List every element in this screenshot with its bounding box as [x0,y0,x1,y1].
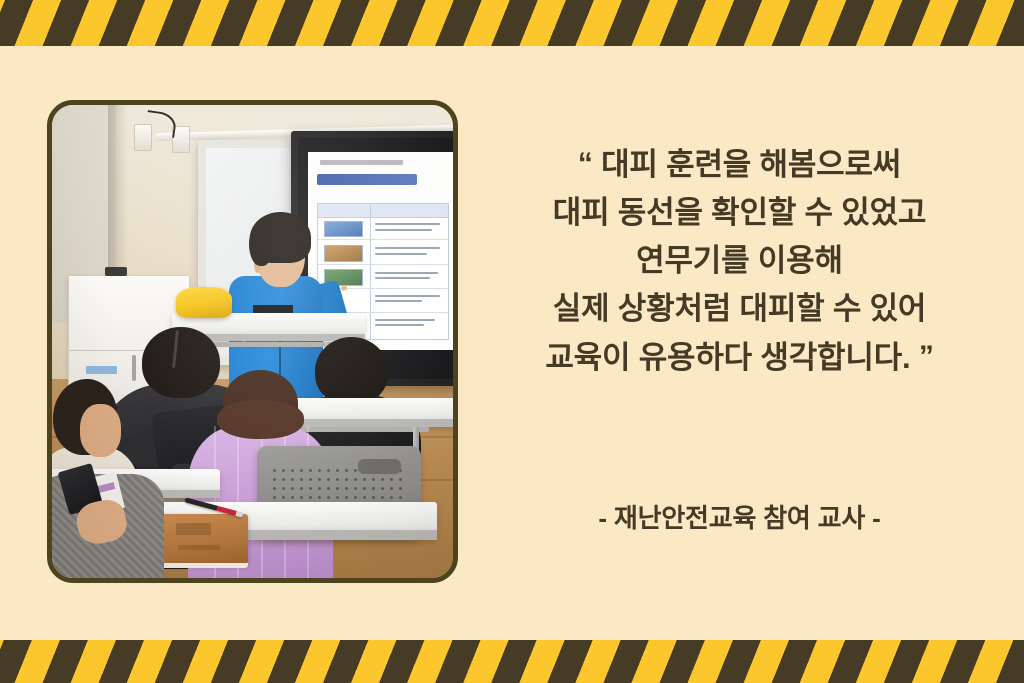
slide-text-line [375,253,427,255]
slide-table-row-divider [318,239,448,240]
photo-scene [52,105,453,578]
student-hair [217,400,304,439]
notebook-pages [160,563,248,568]
slide-text-line [375,223,440,225]
chair-handle-slot [358,459,401,474]
slide-table-row-divider [318,264,448,265]
hazard-stripe-band-top [0,0,1024,46]
notebook [160,514,248,564]
close-quote-mark: ” [919,340,934,373]
slide-text-line [375,300,422,302]
slide-text-line [375,229,432,231]
quote-line-5: 교육이 유용하다 생각합니다. ” [487,333,992,382]
slide-table-header [318,204,448,217]
slide-table-column-divider [370,204,371,339]
safety-education-quote-card: “ 대피 훈련을 해봄으로써 대피 동선을 확인할 수 있었고 연무기를 이용해… [0,0,1024,683]
yellow-bag [176,287,232,318]
attribution: - 재난안전교육 참여 교사 - [487,498,992,535]
slide-kicker-bar [320,160,403,165]
slide-text-line [375,272,438,274]
quote-line-2: 대피 동선을 확인할 수 있었고 [487,189,992,237]
cabinet-top-object [105,267,127,277]
quote-line-3: 연무기를 이용해 [487,237,992,285]
slide-text-line [375,277,430,279]
slide-text-line [375,324,425,326]
student-foreground [52,474,164,578]
classroom-photo [47,100,458,583]
slide-text-line [375,319,435,321]
quote-line-4: 실제 상황처럼 대피할 수 있어 [487,285,992,333]
hazard-stripe-band-bottom [0,640,1024,683]
quote-line-1-text: 대피 훈련을 해봄으로써 [601,147,901,182]
quote-block: “ 대피 훈련을 해봄으로써 대피 동선을 확인할 수 있었고 연무기를 이용해… [487,140,992,382]
notebook-emboss [178,545,220,550]
quote-line-1: “ 대피 훈련을 해봄으로써 [487,140,992,189]
notebook-emboss [176,523,211,535]
slide-text-line [375,247,440,249]
slide-title-bar [317,174,418,185]
quote-line-5-text: 교육이 유용하다 생각합니다. [545,340,910,375]
open-quote-mark: “ [578,147,593,180]
slide-text-line [375,295,440,297]
student-face [80,404,122,457]
instructor-hair [249,222,271,266]
